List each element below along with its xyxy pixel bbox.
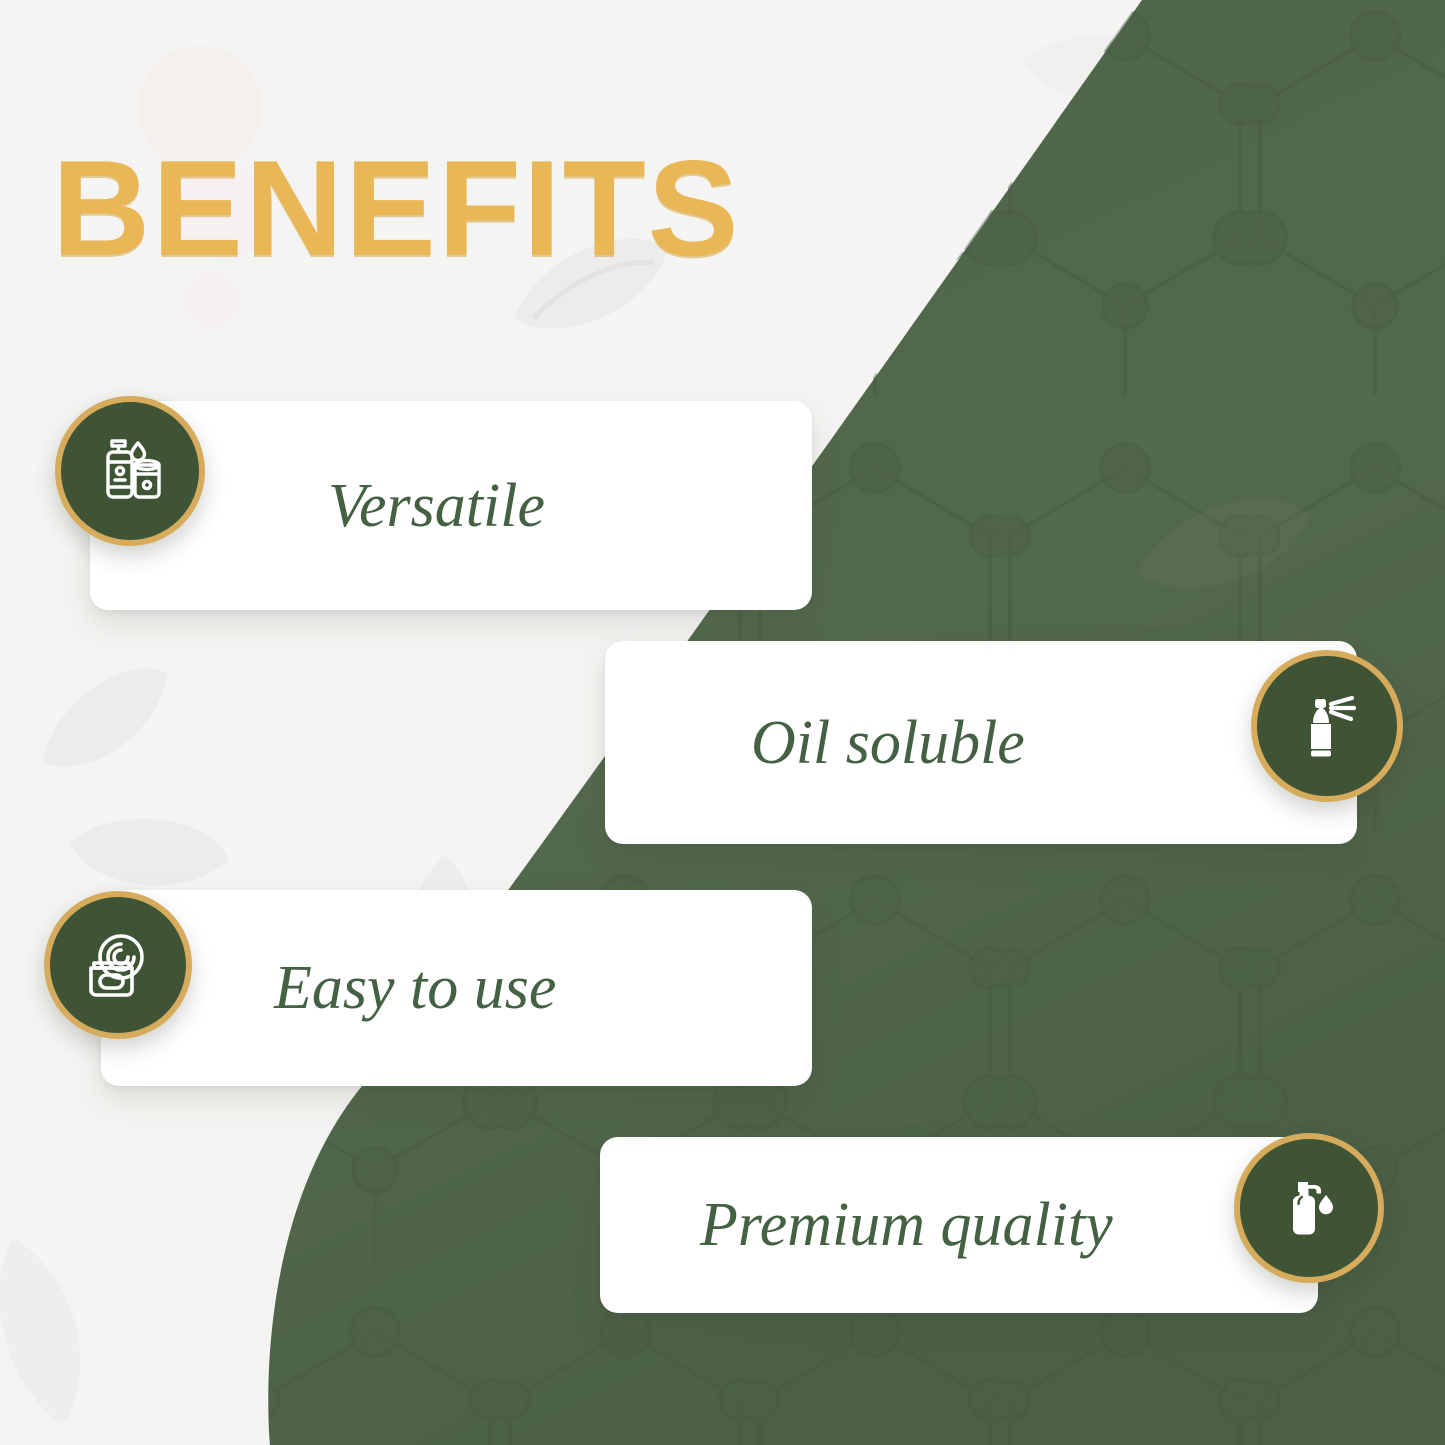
page-title: BENEFITS bbox=[52, 140, 741, 276]
benefit-card-premium-quality[interactable]: Premium quality bbox=[600, 1137, 1318, 1313]
cream-jar-icon bbox=[44, 891, 192, 1039]
benefit-card-versatile[interactable]: Versatile bbox=[90, 401, 812, 610]
benefit-card-easy-to-use[interactable]: Easy to use bbox=[101, 890, 812, 1086]
spray-can-icon bbox=[1251, 650, 1403, 802]
pump-dispenser-bottle-icon bbox=[1234, 1133, 1384, 1283]
poster-canvas: BENEFITS Versatile Oil soluble bbox=[0, 0, 1445, 1445]
benefit-card-oil-soluble[interactable]: Oil soluble bbox=[605, 641, 1357, 844]
benefit-label: Premium quality bbox=[700, 1194, 1113, 1256]
lotion-bottle-and-jar-icon bbox=[55, 396, 205, 546]
benefit-label: Versatile bbox=[328, 475, 545, 537]
benefit-label: Oil soluble bbox=[751, 712, 1025, 774]
benefit-label: Easy to use bbox=[274, 957, 556, 1019]
